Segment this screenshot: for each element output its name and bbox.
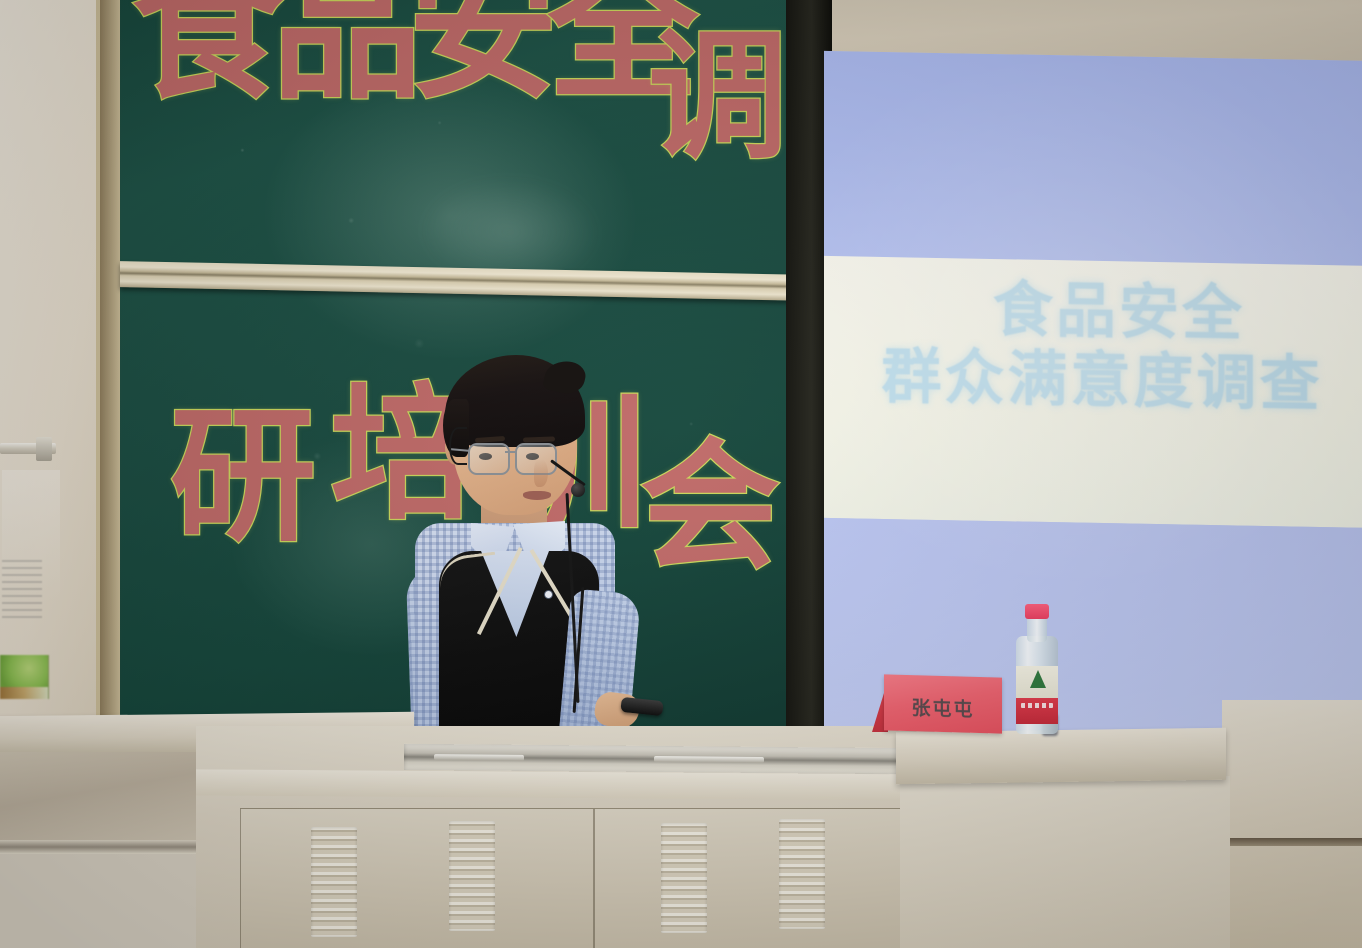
- headset-earhook-icon: [449, 427, 467, 465]
- glasses-lens-left: [468, 443, 510, 475]
- chalk-char-1: 食: [132, 0, 282, 108]
- vent-icon: [779, 819, 825, 929]
- vent-icon: [311, 827, 357, 937]
- right-wall: [1222, 700, 1362, 948]
- bottle-label-brand: [1016, 698, 1058, 724]
- side-table-body: [900, 776, 1230, 948]
- lectern-cabinet-door-left[interactable]: [240, 808, 594, 948]
- wall-light-rail-bracket: [36, 437, 52, 461]
- chalk-char-3: 安: [408, 0, 558, 108]
- slide-title: 食品安全 群众满意度调查: [824, 273, 1362, 421]
- chalk-char-6: 研: [170, 404, 316, 550]
- side-table-top: [896, 728, 1226, 785]
- slide-title-line-2: 群众满意度调查: [824, 342, 1362, 421]
- projector-screen: 食品安全 群众满意度调查: [824, 51, 1362, 761]
- vent-icon: [449, 821, 495, 931]
- lecture-hall-photo: 食 品 安 全 调 研 培 训 会 食品安全 群众满意度调查: [0, 0, 1362, 948]
- lectern-top-edge: [196, 769, 956, 800]
- mountain-logo-icon: [1030, 670, 1046, 688]
- water-bottle: [1014, 602, 1060, 734]
- chalk-char-2: 品: [272, 0, 422, 108]
- right-wall-edge: [1222, 838, 1362, 846]
- lectern-open-shelf: [0, 752, 220, 852]
- nose: [534, 459, 548, 487]
- bottle-neck: [1027, 616, 1047, 642]
- mouth: [523, 491, 551, 500]
- vent-icon: [661, 823, 707, 933]
- slide-top-band: [824, 51, 1362, 266]
- lectern-drawer-slide-rail[interactable]: [404, 744, 904, 774]
- lectern-shelf-rail: [0, 840, 226, 854]
- bottle-cap: [1025, 604, 1049, 619]
- nature-poster-image: [0, 655, 49, 699]
- slide-title-line-1: 食品安全: [824, 273, 1362, 352]
- chalk-char-5: 调: [648, 28, 788, 168]
- name-tent-card-label: 张屯屯: [884, 692, 1002, 722]
- collar-button: [545, 591, 552, 598]
- notice-poster-text: [2, 560, 42, 620]
- headset-mic-capsule: [571, 483, 585, 497]
- glasses-bridge: [505, 451, 517, 453]
- presenter: [395, 355, 695, 755]
- blackboard-frame-shadow: [100, 0, 122, 762]
